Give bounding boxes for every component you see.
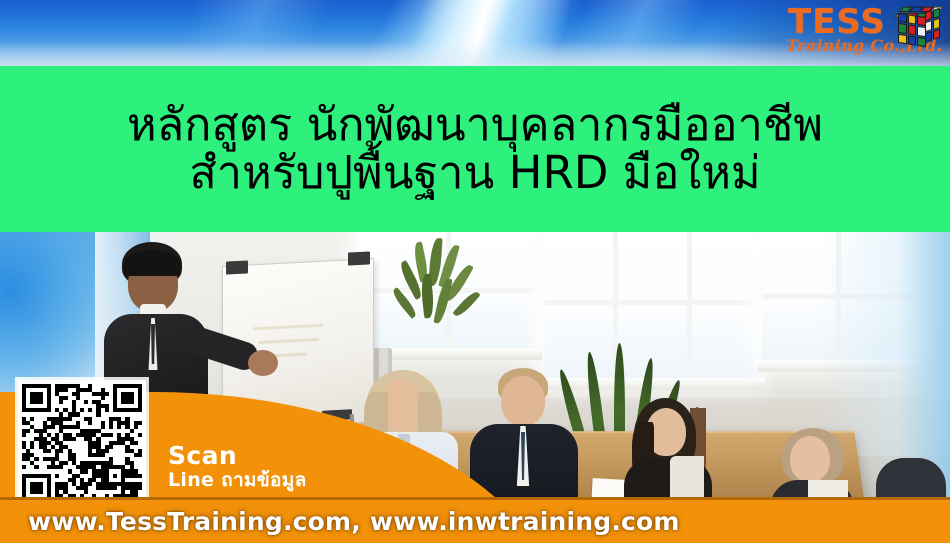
person-right-woman [762,428,860,503]
footer-bar: www.TessTraining.com, www.inwtraining.co… [0,497,950,543]
scan-label: Scan [168,443,307,468]
promotional-poster: TESS Training Co.,Ltd. หลักสูตร นักพัฒนา… [0,0,950,543]
website-urls[interactable]: www.TessTraining.com, www.inwtraining.co… [28,507,680,536]
qr-code[interactable] [18,380,146,506]
course-title: หลักสูตร นักพัฒนาบุคลากรมืออาชีพ สำหรับป… [0,66,950,232]
person-partial-right [876,444,946,503]
hanging-plant [386,238,486,338]
person-dark-hair-woman [618,398,718,503]
tess-logo: TESS Training Co.,Ltd. [784,2,944,66]
flipchart-clip-right [348,251,370,265]
course-title-line-2: สำหรับปูพื้นฐาน HRD มือใหม่ [189,150,760,196]
scan-text-block: Scan Line ถามข้อมูล [168,443,307,490]
title-green-band: หลักสูตร นักพัฒนาบุคลากรมืออาชีพ สำหรับป… [0,66,950,232]
line-info-label: Line ถามข้อมูล [168,471,307,490]
person-seated-man [470,368,578,502]
qr-code-grid [22,384,142,502]
rubiks-cube-icon [896,5,942,49]
course-title-line-1: หลักสูตร นักพัฒนาบุคลากรมืออาชีพ [127,102,823,148]
